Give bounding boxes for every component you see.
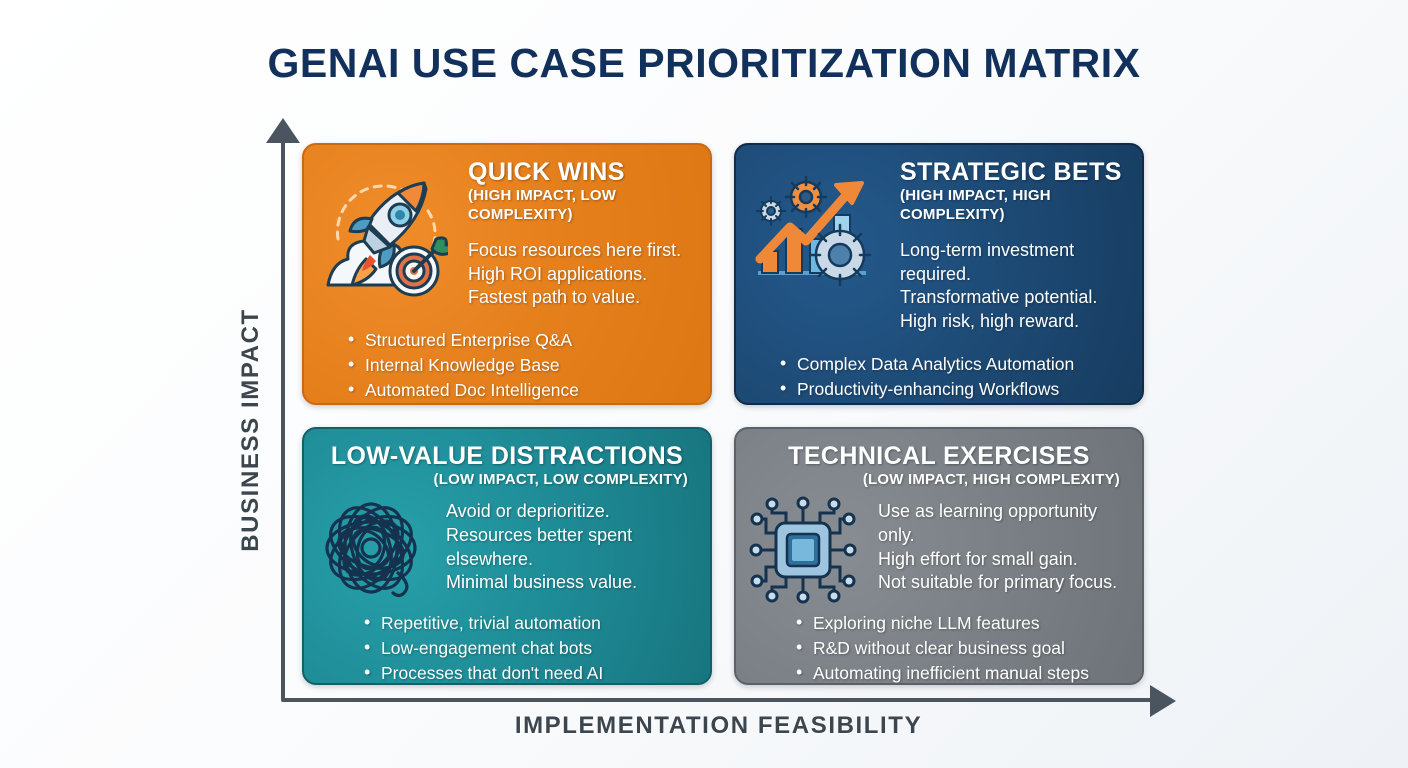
quadrant-title: STRATEGIC BETS bbox=[900, 159, 1126, 185]
quadrant-header: LOW-VALUE DISTRACTIONS (LOW IMPACT, LOW … bbox=[320, 443, 694, 490]
quadrant-description: Use as learning opportunity only. High e… bbox=[878, 500, 1126, 595]
quadrant-description: Avoid or deprioritize. Resources better … bbox=[446, 500, 694, 595]
tangled-knot-icon bbox=[312, 491, 430, 609]
quadrant-description: Long-term investment required. Transform… bbox=[900, 239, 1126, 334]
description-line: Focus resources here first. bbox=[468, 239, 694, 263]
list-item: R&D without clear business goal bbox=[796, 636, 1126, 661]
quadrant-description: Focus resources here first. High ROI app… bbox=[468, 239, 694, 310]
rocket-target-icon bbox=[312, 167, 448, 303]
description-line: Fastest path to value. bbox=[468, 286, 694, 310]
quadrant-strategic-bets[interactable]: STRATEGIC BETS (HIGH IMPACT, HIGH COMPLE… bbox=[734, 143, 1144, 405]
list-item: Low-engagement chat bots bbox=[364, 636, 694, 661]
quadrant-technical-exercises[interactable]: TECHNICAL EXERCISES (LOW IMPACT, HIGH CO… bbox=[734, 427, 1144, 685]
list-item: Complex Data Analytics Automation bbox=[780, 352, 1126, 377]
description-line: Use as learning opportunity only. bbox=[878, 500, 1126, 548]
quadrant-subtitle: (HIGH IMPACT, HIGH COMPLEXITY) bbox=[900, 187, 1126, 225]
description-line: Avoid or deprioritize. bbox=[446, 500, 694, 524]
quadrant-item-list: Repetitive, trivial automation Low-engag… bbox=[364, 611, 694, 685]
quadrant-subtitle: (LOW IMPACT, HIGH COMPLEXITY) bbox=[752, 471, 1126, 490]
x-axis-label: IMPLEMENTATION FEASIBILITY bbox=[281, 712, 1156, 740]
description-line: Resources better spent elsewhere. bbox=[446, 524, 694, 572]
description-line: High ROI applications. bbox=[468, 263, 694, 287]
y-axis-line bbox=[281, 138, 285, 700]
y-axis-label: BUSINESS IMPACT bbox=[233, 270, 269, 590]
arrow-up-icon bbox=[266, 118, 300, 143]
list-item: Structured Enterprise Q&A bbox=[348, 328, 694, 353]
quadrant-title: TECHNICAL EXERCISES bbox=[752, 443, 1126, 469]
description-line: Minimal business value. bbox=[446, 571, 694, 595]
quadrant-item-list: Complex Data Analytics Automation Produc… bbox=[780, 352, 1126, 405]
list-item: Repetitive, trivial automation bbox=[364, 611, 694, 636]
quadrant-header: STRATEGIC BETS (HIGH IMPACT, HIGH COMPLE… bbox=[900, 159, 1126, 225]
quadrant-quick-wins[interactable]: QUICK WINS (HIGH IMPACT, LOW COMPLEXITY)… bbox=[302, 143, 712, 405]
quadrant-subtitle: (LOW IMPACT, LOW COMPLEXITY) bbox=[320, 471, 694, 490]
quadrant-header: TECHNICAL EXERCISES (LOW IMPACT, HIGH CO… bbox=[752, 443, 1126, 490]
matrix-canvas: GENAI USE CASE PRIORITIZATION MATRIX BUS… bbox=[0, 0, 1408, 768]
description-line: High risk, high reward. bbox=[900, 310, 1126, 334]
list-item: Productivity-enhancing Workflows bbox=[780, 377, 1126, 402]
description-line: Long-term investment required. bbox=[900, 239, 1126, 287]
quadrant-title: QUICK WINS bbox=[468, 159, 694, 185]
quadrant-subtitle: (HIGH IMPACT, LOW COMPLEXITY) bbox=[468, 187, 694, 225]
quadrant-grid: QUICK WINS (HIGH IMPACT, LOW COMPLEXITY)… bbox=[302, 143, 1144, 683]
quadrant-title: LOW-VALUE DISTRACTIONS bbox=[320, 443, 694, 469]
list-item: Processes that don't need AI bbox=[364, 661, 694, 685]
quadrant-item-list: Exploring niche LLM features R&D without… bbox=[796, 611, 1126, 685]
description-line: Transformative potential. bbox=[900, 286, 1126, 310]
list-item: Internal Knowledge Base bbox=[348, 353, 694, 378]
list-item: Custom Model Finetuning bbox=[780, 401, 1126, 405]
quadrant-low-value-distractions[interactable]: LOW-VALUE DISTRACTIONS (LOW IMPACT, LOW … bbox=[302, 427, 712, 685]
description-line: High effort for small gain. bbox=[878, 548, 1126, 572]
microchip-circuit-icon bbox=[744, 491, 862, 609]
list-item: Automating inefficient manual steps bbox=[796, 661, 1126, 685]
quadrant-header: QUICK WINS (HIGH IMPACT, LOW COMPLEXITY) bbox=[468, 159, 694, 225]
list-item: Exploring niche LLM features bbox=[796, 611, 1126, 636]
quadrant-item-list: Structured Enterprise Q&A Internal Knowl… bbox=[348, 328, 694, 403]
page-title: GENAI USE CASE PRIORITIZATION MATRIX bbox=[0, 40, 1408, 87]
x-axis-line bbox=[281, 698, 1156, 702]
growth-chart-gears-icon bbox=[744, 167, 880, 303]
description-line: Not suitable for primary focus. bbox=[878, 571, 1126, 595]
list-item: Automated Doc Intelligence bbox=[348, 378, 694, 403]
